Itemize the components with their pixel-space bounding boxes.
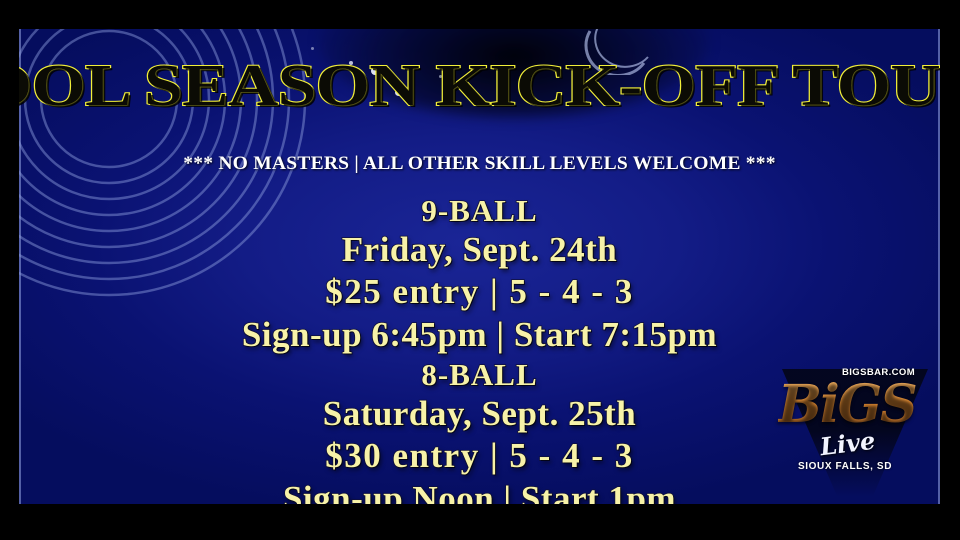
event-block-9ball: 9-BALL Friday, Sept. 24th $25 entry | 5 … <box>19 192 940 356</box>
event-date: Friday, Sept. 24th <box>19 229 940 271</box>
logo-wordmark: BiGS <box>778 377 916 433</box>
bigs-bar-logo: BIGSBAR.COM BiGS Live SIOUX FALLS, SD <box>764 361 940 501</box>
bokeh-dot <box>311 47 314 50</box>
subtitle-skill-levels: *** NO MASTERS | ALL OTHER SKILL LEVELS … <box>19 153 940 175</box>
poster-canvas: POOL SEASON KICK-OFF TOURNAMENT *** NO M… <box>0 0 960 540</box>
event-times: Sign-up 6:45pm | Start 7:15pm <box>19 313 940 356</box>
page-title: POOL SEASON KICK-OFF TOURNAMENT <box>19 56 940 115</box>
logo-city-label: SIOUX FALLS, SD <box>798 461 892 472</box>
event-game-title: 9-BALL <box>19 192 940 229</box>
event-entry-fee: $25 entry | 5 - 4 - 3 <box>19 271 940 313</box>
logo-tagline: Live <box>818 426 876 462</box>
flyer-background: POOL SEASON KICK-OFF TOURNAMENT *** NO M… <box>19 29 940 504</box>
